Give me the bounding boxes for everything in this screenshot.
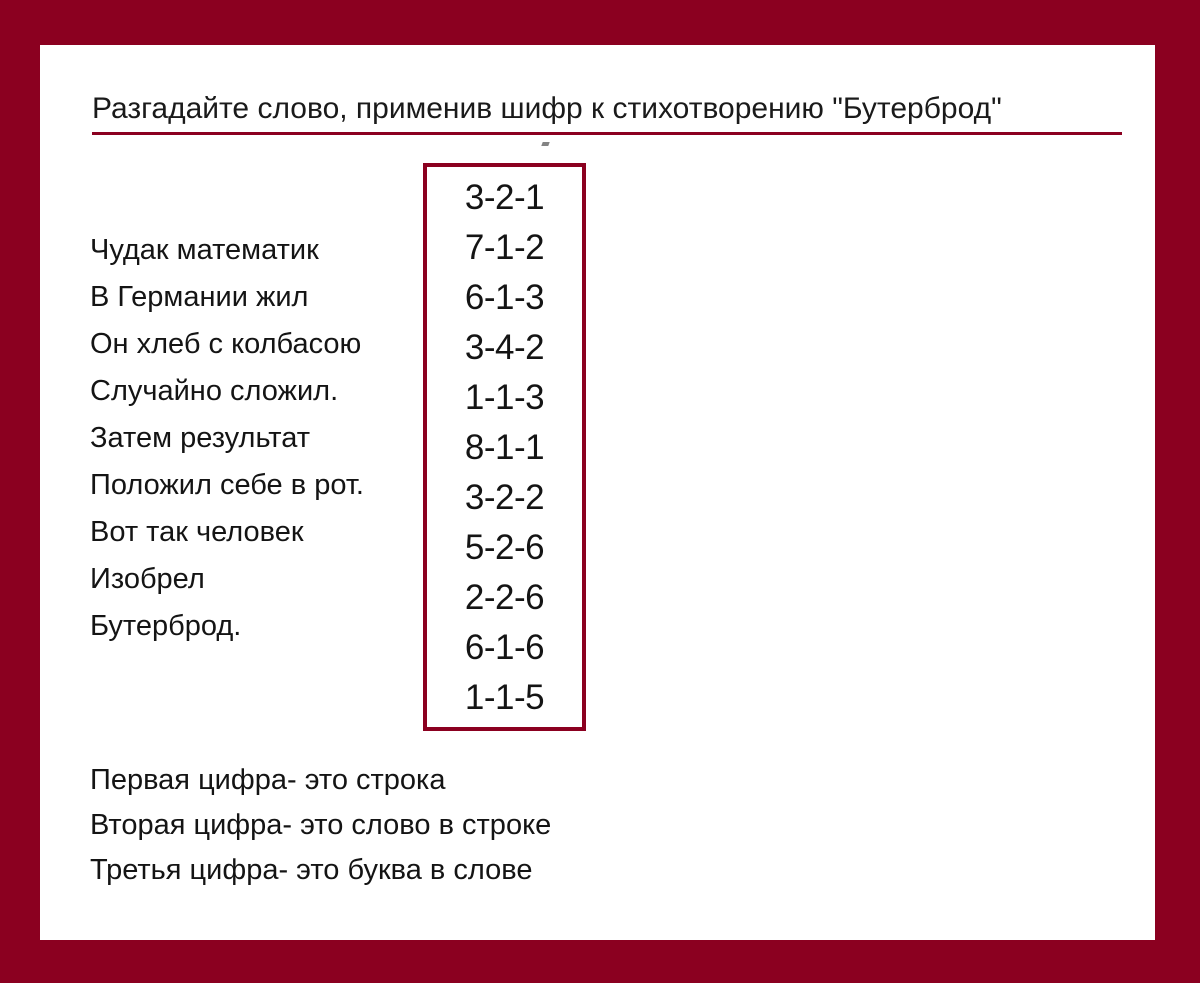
cipher-code-item: 1-1-5 — [465, 673, 544, 723]
poem-line: Затем результат — [90, 415, 430, 462]
cipher-code-item: 1-1-3 — [465, 373, 544, 423]
poem-block: Чудак математик В Германии жил Он хлеб с… — [90, 227, 430, 650]
cipher-code-item: 2-2-6 — [465, 573, 544, 623]
title-block: Разгадайте слово, применив шифр к стихот… — [92, 90, 1122, 135]
poem-line: Вот так человек — [90, 509, 430, 556]
cipher-code-item: 3-4-2 — [465, 323, 544, 373]
cipher-code-item: 3-2-2 — [465, 473, 544, 523]
slide-frame: Разгадайте слово, применив шифр к стихот… — [0, 0, 1200, 983]
poem-line: Бутерброд. — [90, 603, 430, 650]
legend-block: Первая цифра- это строка Вторая цифра- э… — [90, 758, 710, 893]
page-title: Разгадайте слово, применив шифр к стихот… — [92, 90, 1122, 128]
content-panel: Разгадайте слово, применив шифр к стихот… — [40, 45, 1155, 940]
poem-line: Случайно сложил. — [90, 368, 430, 415]
legend-line: Третья цифра- это буква в слове — [90, 848, 710, 893]
cipher-code-item: 6-1-3 — [465, 273, 544, 323]
poem-line: Чудак математик — [90, 227, 430, 274]
scan-artifact-mark — [541, 142, 549, 146]
cipher-code-item: 5-2-6 — [465, 523, 544, 573]
cipher-code-box: 3-2-1 7-1-2 6-1-3 3-4-2 1-1-3 8-1-1 3-2-… — [423, 163, 586, 731]
cipher-code-item: 3-2-1 — [465, 173, 544, 223]
cipher-code-item: 6-1-6 — [465, 623, 544, 673]
poem-line: Положил себе в рот. — [90, 462, 430, 509]
legend-line: Вторая цифра- это слово в строке — [90, 803, 710, 848]
poem-line: В Германии жил — [90, 274, 430, 321]
cipher-code-item: 8-1-1 — [465, 423, 544, 473]
cipher-code-item: 7-1-2 — [465, 223, 544, 273]
title-underline-rule — [92, 132, 1122, 135]
legend-line: Первая цифра- это строка — [90, 758, 710, 803]
poem-line: Он хлеб с колбасою — [90, 321, 430, 368]
poem-line: Изобрел — [90, 556, 430, 603]
